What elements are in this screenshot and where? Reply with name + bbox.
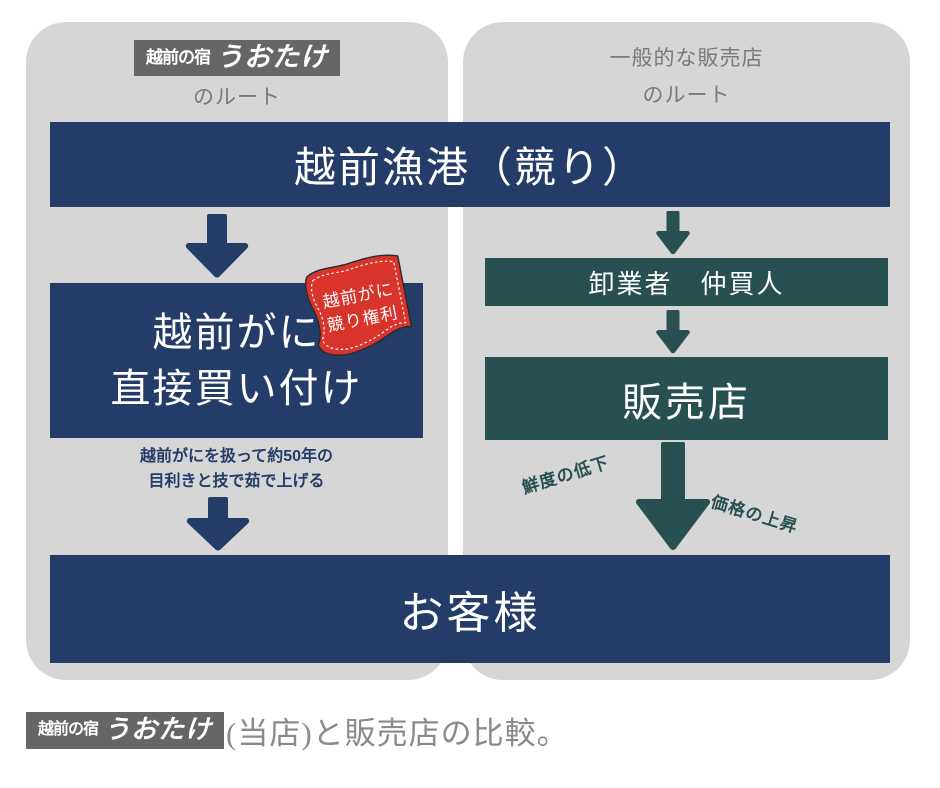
footer-caption: 越前の宿うおたけ (当店)と販売店の比較。: [26, 706, 569, 754]
box-customer: お客様: [50, 555, 890, 663]
column-header-left: 越前の宿うおたけ のルート: [26, 40, 448, 113]
logo-prefix-text: 越前の宿: [146, 48, 210, 67]
diagram-canvas: 越前の宿うおたけ のルート 一般的な販売店 のルート 越前漁港（競り） 越前がに…: [0, 0, 940, 788]
caption-direct-line2: 目利きと技で茹で上げる: [50, 469, 423, 494]
arrow-down-navy-to-customer: [182, 497, 254, 552]
column-header-right-title: 一般的な販売店: [610, 47, 764, 70]
box-wholesaler-broker: 卸業者 仲買人: [485, 258, 888, 306]
column-header-right-sublabel: のルート: [463, 81, 910, 111]
uotake-logo: 越前の宿うおたけ: [134, 40, 340, 76]
box-direct-purchase-line2: 直接買い付け: [111, 361, 363, 417]
caption-direct-line1: 越前がにを扱って約50年の: [50, 444, 423, 469]
seal-badge-crab-auction-rights: 越前がに 競り権利: [298, 249, 422, 368]
footer-caption-text: (当店)と販売店の比較。: [226, 708, 569, 753]
arrow-down-green-to-shop: [655, 310, 691, 354]
seal-badge-text: 越前がに 競り権利: [298, 249, 422, 368]
column-header-right: 一般的な販売店 のルート: [463, 44, 910, 111]
box-retail-shop: 販売店: [485, 357, 888, 440]
uotake-logo-footer: 越前の宿うおたけ: [26, 712, 224, 749]
arrow-down-green-to-wholesaler: [655, 211, 691, 255]
arrow-down-green-large-to-customer: [633, 442, 713, 552]
arrow-down-navy-large: [181, 214, 253, 279]
footer-logo-name-text: うおたけ: [104, 715, 212, 745]
column-header-left-sublabel: のルート: [26, 83, 448, 113]
footer-logo-prefix-text: 越前の宿: [38, 721, 98, 738]
logo-name-text: うおたけ: [216, 42, 328, 73]
box-fishing-port-auction: 越前漁港（競り）: [50, 122, 890, 207]
caption-direct-purchase: 越前がにを扱って約50年の 目利きと技で茹で上げる: [50, 444, 423, 494]
